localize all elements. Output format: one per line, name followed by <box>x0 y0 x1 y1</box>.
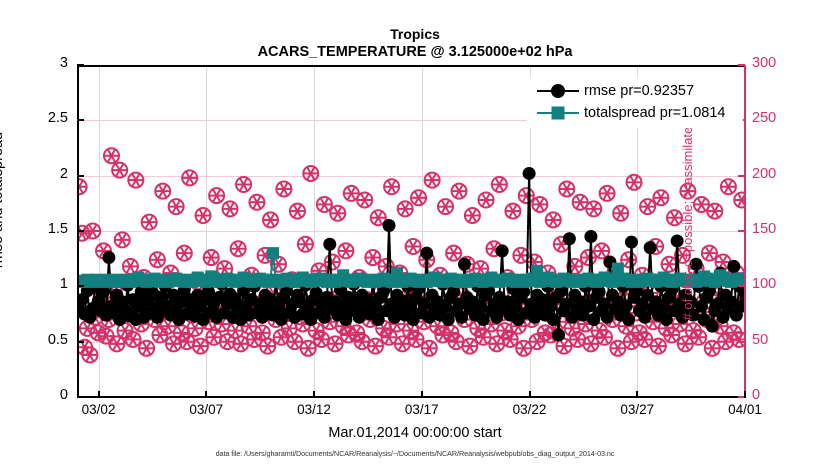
x-tick-label: 03/22 <box>495 402 565 417</box>
legend-label-totalspread: totalspread pr=1.0814 <box>584 105 725 121</box>
y-tick-label-left: 0 <box>28 387 68 403</box>
y-tick-label-left: 1 <box>28 276 68 292</box>
y-tick-label-right: 300 <box>752 55 800 71</box>
series-obs-markers <box>77 148 745 362</box>
x-tick-label: 04/01 <box>710 402 780 417</box>
y-tick-label-left: 3 <box>28 55 68 71</box>
x-tick-label: 03/02 <box>64 402 134 417</box>
y-tick-left <box>77 175 84 177</box>
chart-title-block: Tropics ACARS_TEMPERATURE @ 3.125000e+02… <box>0 26 830 62</box>
legend-line-rmse <box>537 90 579 93</box>
axis-line-bottom <box>77 396 746 398</box>
y-tick-label-right: 150 <box>752 221 800 237</box>
legend-item-rmse[interactable]: rmse pr=0.92357 <box>537 80 743 102</box>
y-tick-label-left: 1.5 <box>28 221 68 237</box>
x-tick <box>313 391 315 398</box>
y-tick-label-right: 50 <box>752 332 800 348</box>
y-tick-right <box>738 64 745 66</box>
chart-title-region: Tropics <box>0 26 830 43</box>
y-tick-left <box>77 230 84 232</box>
y-tick-right <box>738 175 745 177</box>
y-tick-left <box>77 341 84 343</box>
legend-item-totalspread[interactable]: totalspread pr=1.0814 <box>537 102 743 124</box>
y-tick-right <box>738 230 745 232</box>
y-tick-label-right: 200 <box>752 166 800 182</box>
y-tick-left <box>77 119 84 121</box>
x-tick <box>744 391 746 398</box>
x-axis-label: Mar.01,2014 00:00:00 start <box>0 425 830 441</box>
y-tick-label-left: 2 <box>28 166 68 182</box>
legend-line-totalspread <box>537 112 579 115</box>
y-tick-right <box>738 285 745 287</box>
legend-label-rmse: rmse pr=0.92357 <box>584 83 694 99</box>
y-tick-left <box>77 285 84 287</box>
y-tick-label-right: 0 <box>752 387 800 403</box>
y-tick-label-left: 0.5 <box>28 332 68 348</box>
x-tick <box>529 391 531 398</box>
x-tick-label: 03/07 <box>171 402 241 417</box>
chart-page: Tropics ACARS_TEMPERATURE @ 3.125000e+02… <box>0 0 830 470</box>
chart-title-variable: ACARS_TEMPERATURE @ 3.125000e+02 hPa <box>0 43 830 62</box>
y-tick-label-left: 2.5 <box>28 110 68 126</box>
square-marker-icon <box>552 107 565 120</box>
y-tick-label-right: 250 <box>752 110 800 126</box>
x-tick-label: 03/27 <box>602 402 672 417</box>
x-tick <box>421 391 423 398</box>
y-tick-right <box>738 341 745 343</box>
x-tick-label: 03/17 <box>387 402 457 417</box>
data-file-footer: data file: /Users/gharamti/Documents/NCA… <box>0 449 830 458</box>
y-axis-label-left: rmse and totalspread <box>0 100 6 300</box>
circle-marker-icon <box>551 84 565 98</box>
x-tick <box>98 391 100 398</box>
legend: rmse pr=0.92357 totalspread pr=1.0814 <box>527 77 743 128</box>
axis-line-top <box>77 65 746 67</box>
y-tick-left <box>77 64 84 66</box>
x-tick <box>205 391 207 398</box>
x-tick <box>636 391 638 398</box>
y-tick-left <box>77 396 84 398</box>
x-tick-label: 03/12 <box>279 402 349 417</box>
y-tick-label-right: 100 <box>752 276 800 292</box>
